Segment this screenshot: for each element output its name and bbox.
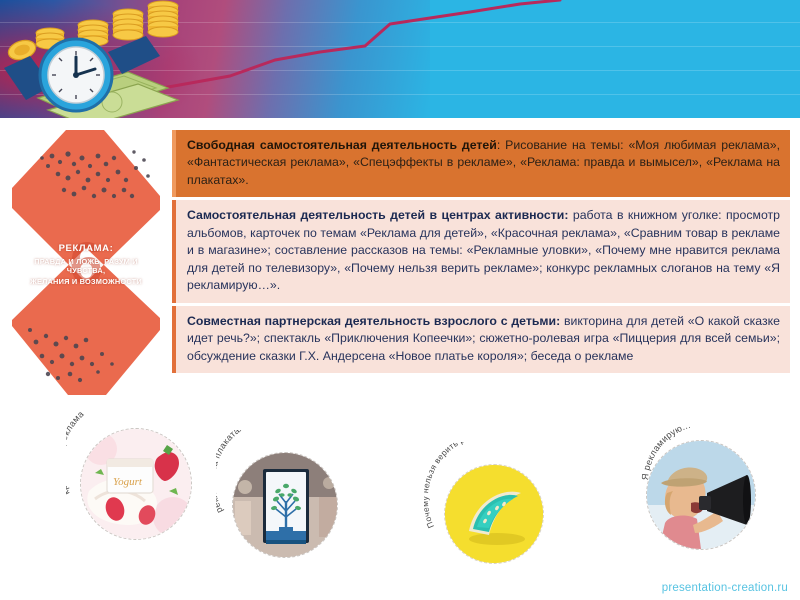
circle-frame-1: Yogurt: [80, 428, 192, 540]
poster-title: РЕКЛАМА: ПРАВДА И ЛОЖЬ, РАЗУМ И ЧУВСТВА,…: [12, 243, 160, 287]
billboard-poster-photo-icon: [233, 453, 337, 557]
yogurt-strawberry-photo-icon: Yogurt: [81, 429, 191, 539]
poster-title-line2: ПРАВДА И ЛОЖЬ, РАЗУМ И ЧУВСТВА,: [12, 257, 160, 276]
poster-title-line3: ЖЕЛАНИЯ И ВОЗМОЖНОСТИ: [12, 277, 160, 286]
text-block-free-activity: Свободная самостоятельная деятельность д…: [172, 130, 790, 197]
circle-item-2[interactable]: реклама на плакатах: [216, 430, 350, 564]
circle-item-1[interactable]: Yogurt красочная реклама: [66, 408, 200, 542]
clock-coins-money-illustration: [0, 0, 360, 118]
text-block-activity-centers: Самостоятельная деятельность детей в цен…: [172, 200, 790, 302]
circle-frame-2: [232, 452, 338, 558]
text-block-joint-activity: Совместная партнерская деятельность взро…: [172, 306, 790, 373]
photo-circle-row: Yogurt красочная реклама: [0, 398, 800, 573]
block-heading-2: Самостоятельная деятельность детей в цен…: [187, 208, 568, 222]
header-banner: [0, 0, 800, 118]
content-text-blocks: Свободная самостоятельная деятельность д…: [172, 130, 790, 373]
circle-frame-4: [646, 440, 756, 550]
footer-watermark: presentation-creation.ru: [662, 582, 788, 594]
advertising-book-cover-poster: 6 РЕКЛАМА: ПРАВДА И ЛОЖЬ, РАЗУМ И ЧУВСТВ…: [12, 130, 160, 395]
circle-item-3[interactable]: Почему нельзя верить рекламе: [424, 442, 564, 576]
circle-item-4[interactable]: Я рекламирую...: [626, 414, 766, 554]
circle-frame-3: [444, 464, 544, 564]
block-heading-1: Свободная самостоятельная деятельность д…: [187, 138, 497, 152]
poster-title-main: РЕКЛАМА:: [12, 243, 160, 255]
block-heading-3: Совместная партнерская деятельность взро…: [187, 314, 560, 328]
child-megaphone-photo-icon: [647, 441, 755, 549]
svg-text:Yogurt: Yogurt: [113, 476, 143, 488]
watermelon-slice-photo-icon: [445, 465, 543, 563]
